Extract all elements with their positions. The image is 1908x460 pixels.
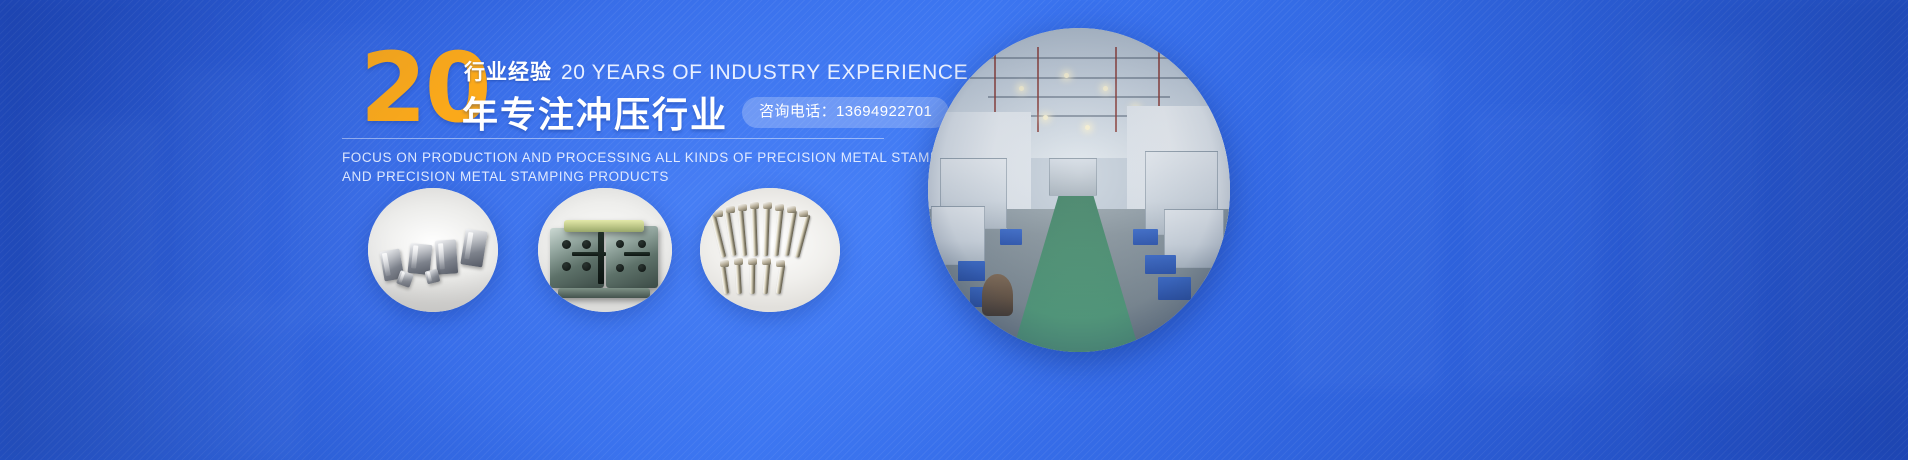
product-circle-mold[interactable] <box>538 188 672 312</box>
factory-workshop-photo[interactable] <box>928 28 1230 352</box>
headline-en-small: 20 YEARS OF INDUSTRY EXPERIENCE <box>561 61 968 85</box>
stamping-mold-photo <box>538 188 672 312</box>
headline-cn-small: 行业经验 <box>464 56 552 86</box>
factory-photo-shading <box>928 28 1230 352</box>
headline-line-2: 年专注冲压行业 咨询电话：13694922701 <box>462 86 949 138</box>
promo-banner: 20 行业经验 20 YEARS OF INDUSTRY EXPERIENCE … <box>0 0 1908 460</box>
subtitle-line-1: FOCUS ON PRODUCTION AND PROCESSING ALL K… <box>342 148 902 167</box>
phone-badge[interactable]: 咨询电话：13694922701 <box>742 97 949 128</box>
connector-terminals-photo <box>368 188 498 312</box>
headline-block: 20 行业经验 20 YEARS OF INDUSTRY EXPERIENCE … <box>340 38 900 178</box>
headline-line-1: 行业经验 20 YEARS OF INDUSTRY EXPERIENCE <box>464 56 968 86</box>
metal-pins-photo <box>700 188 840 312</box>
subtitle-line-2: AND PRECISION METAL STAMPING PRODUCTS <box>342 167 902 186</box>
subtitle-text: FOCUS ON PRODUCTION AND PROCESSING ALL K… <box>342 148 902 186</box>
headline-divider <box>342 138 884 139</box>
product-circle-pins[interactable] <box>700 188 840 312</box>
headline-cn-large: 年专注冲压行业 <box>462 86 728 138</box>
product-circle-connectors[interactable] <box>368 188 498 312</box>
